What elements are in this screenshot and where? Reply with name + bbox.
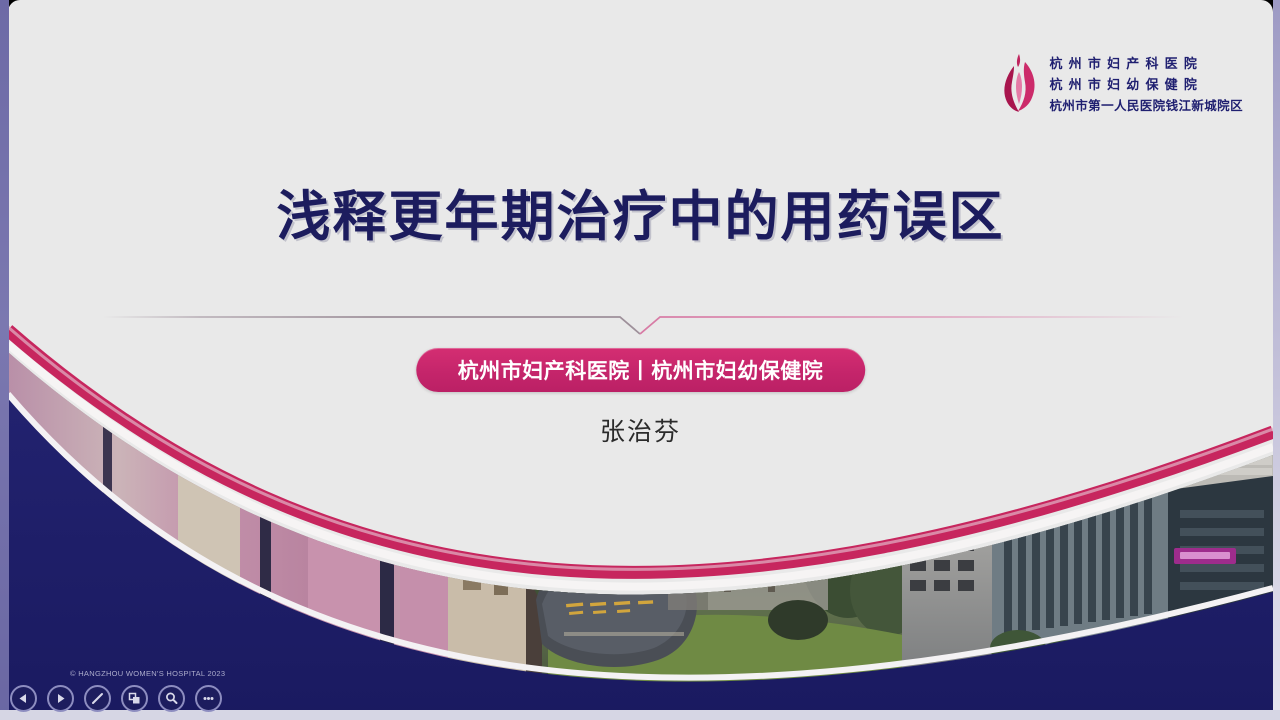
presentation-viewer: 杭州市妇产科医院 杭州市妇幼保健院 杭州市第一人民医院钱江新城院区 浅释更年期治… — [0, 0, 1280, 720]
logo-line-2: 杭州市妇幼保健院 — [1049, 74, 1243, 93]
zoom-button[interactable] — [158, 685, 185, 712]
hospital-logo-text: 杭州市妇产科医院 杭州市妇幼保健院 杭州市第一人民医院钱江新城院区 — [1049, 53, 1243, 114]
more-options-button[interactable] — [195, 685, 222, 712]
pen-slash-icon — [90, 691, 105, 706]
divider-left-segment — [103, 317, 640, 334]
pen-annotate-button[interactable] — [84, 685, 111, 712]
title-divider — [8, 308, 1273, 342]
next-slide-button[interactable] — [47, 685, 74, 712]
hospital-logo: 杭州市妇产科医院 杭州市妇幼保健院 杭州市第一人民医院钱江新城院区 — [998, 52, 1243, 114]
viewer-toolbar — [0, 676, 1280, 720]
slide-thumbnails-button[interactable] — [121, 685, 148, 712]
logo-line-3: 杭州市第一人民医院钱江新城院区 — [1049, 95, 1243, 114]
viewer-right-rail — [1273, 0, 1280, 720]
divider-right-segment — [640, 317, 1183, 334]
magnifier-icon — [164, 691, 179, 706]
triangle-right-icon — [54, 692, 67, 705]
organization-badge: 杭州市妇产科医院丨杭州市妇幼保健院 — [416, 348, 866, 392]
presenter-name: 张治芬 — [8, 412, 1273, 448]
slide-canvas: 杭州市妇产科医院 杭州市妇幼保健院 杭州市第一人民医院钱江新城院区 浅释更年期治… — [8, 0, 1273, 720]
logo-line-1: 杭州市妇产科医院 — [1049, 53, 1243, 72]
ellipsis-icon — [201, 691, 216, 706]
viewer-left-rail — [0, 0, 9, 720]
previous-slide-button[interactable] — [10, 685, 37, 712]
triangle-left-icon — [17, 692, 30, 705]
flame-figure-logo-icon — [998, 52, 1040, 114]
grid-slides-icon — [127, 691, 142, 706]
slide-title: 浅释更年期治疗中的用药误区 — [8, 172, 1273, 251]
